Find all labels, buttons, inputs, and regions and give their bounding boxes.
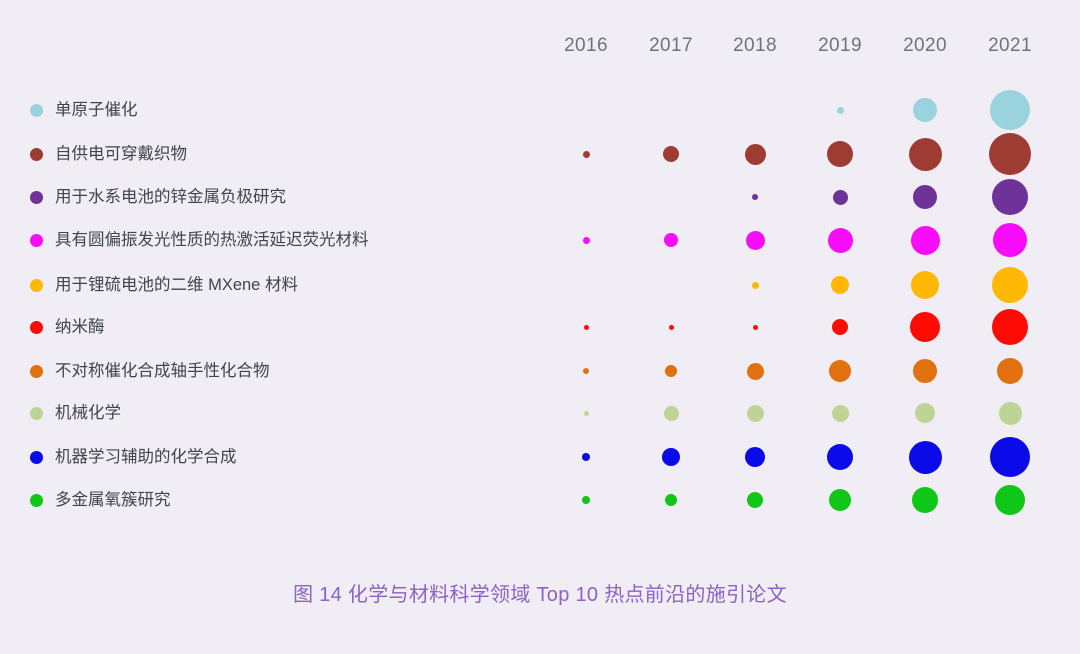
bubble[interactable]	[829, 360, 851, 382]
bubble[interactable]	[583, 237, 590, 244]
bubble[interactable]	[662, 448, 680, 466]
bubble[interactable]	[664, 406, 679, 421]
bubble[interactable]	[910, 312, 940, 342]
bubble[interactable]	[832, 319, 848, 335]
bubble[interactable]	[752, 194, 758, 200]
bubble[interactable]	[663, 146, 679, 162]
bubble[interactable]	[913, 98, 937, 122]
bubble[interactable]	[992, 267, 1028, 303]
bubble[interactable]	[747, 363, 764, 380]
bubble[interactable]	[832, 405, 849, 422]
bubble[interactable]	[909, 441, 942, 474]
bubble[interactable]	[583, 368, 589, 374]
bubble[interactable]	[997, 358, 1023, 384]
bubble[interactable]	[909, 138, 942, 171]
bubble[interactable]	[664, 233, 678, 247]
bubble[interactable]	[746, 231, 765, 250]
bubble[interactable]	[665, 494, 677, 506]
bubble[interactable]	[990, 90, 1030, 130]
bubble[interactable]	[745, 447, 765, 467]
bubble[interactable]	[911, 226, 940, 255]
bubble[interactable]	[992, 309, 1028, 345]
bubble[interactable]	[827, 444, 853, 470]
bubble[interactable]	[752, 282, 759, 289]
bubble[interactable]	[745, 144, 766, 165]
bubble[interactable]	[999, 402, 1022, 425]
bubble[interactable]	[911, 271, 939, 299]
figure-caption: 图 14 化学与材料科学领域 Top 10 热点前沿的施引论文	[0, 578, 1080, 607]
bubble[interactable]	[913, 359, 937, 383]
bubble[interactable]	[669, 325, 674, 330]
bubble[interactable]	[831, 276, 849, 294]
bubble[interactable]	[993, 223, 1027, 257]
bubble[interactable]	[915, 403, 935, 423]
bubble[interactable]	[582, 453, 590, 461]
bubble[interactable]	[995, 485, 1025, 515]
bubble[interactable]	[582, 496, 590, 504]
bubble[interactable]	[992, 179, 1028, 215]
bubble[interactable]	[747, 492, 763, 508]
bubble[interactable]	[912, 487, 938, 513]
bubble[interactable]	[753, 325, 758, 330]
bubble[interactable]	[583, 151, 590, 158]
bubble[interactable]	[665, 365, 677, 377]
bubble[interactable]	[913, 185, 937, 209]
bubble[interactable]	[827, 141, 853, 167]
bubble[interactable]	[747, 405, 764, 422]
bubble[interactable]	[990, 437, 1030, 477]
bubble[interactable]	[837, 107, 844, 114]
bubble[interactable]	[828, 228, 853, 253]
bubble[interactable]	[989, 133, 1031, 175]
bubble[interactable]	[584, 325, 589, 330]
bubble-plot-area	[0, 0, 1080, 654]
bubble[interactable]	[584, 411, 589, 416]
bubble[interactable]	[829, 489, 851, 511]
bubble[interactable]	[833, 190, 848, 205]
bubble-chart-figure: 201620172018201920202021 单原子催化自供电可穿戴织物用于…	[0, 0, 1080, 654]
